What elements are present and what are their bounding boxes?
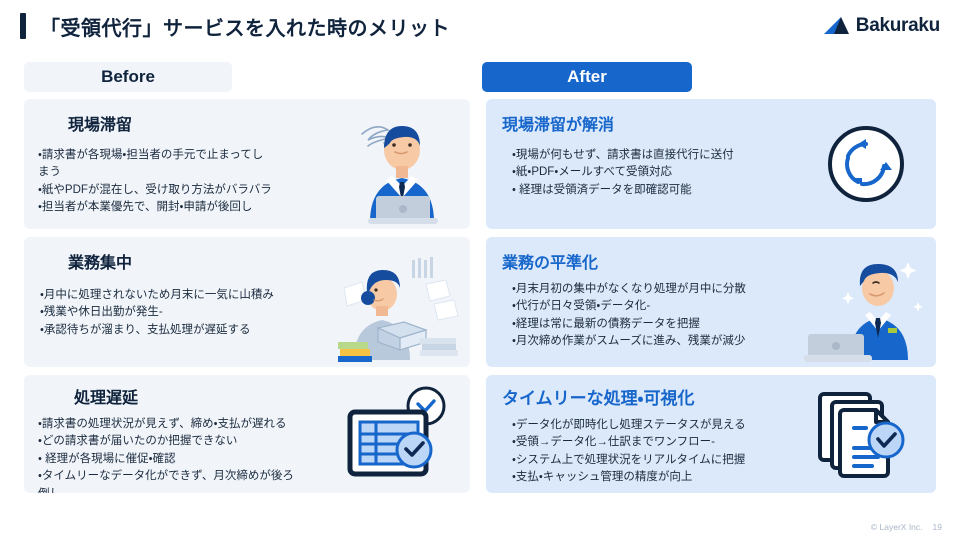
slide-header: 「受領代行」サービスを入れた時のメリット Bakuraku	[0, 0, 960, 52]
copyright-text: © LayerX Inc.	[871, 522, 923, 532]
list-item: ・ 経理が各現場に催促・確認	[38, 451, 360, 468]
list-item: ・紙・PDF・メールすべて受領対応	[512, 164, 812, 181]
before-card: 現場滞留 ・請求書が各現場・担当者の手元で止まってし まう ・紙やPDFが混在し…	[24, 99, 470, 229]
slide-footer: © LayerX Inc. 19	[871, 522, 942, 532]
before-card: 業務集中 ・月中に処理されないため月末に一気に山積み ・残業や休日出勤が発生- …	[24, 237, 470, 367]
list-item: ・現場が何もせず、請求書は直接代行に送付	[512, 147, 812, 164]
title-accent-bar	[20, 13, 26, 39]
comparison-row: 現場滞留 ・請求書が各現場・担当者の手元で止まってし まう ・紙やPDFが混在し…	[0, 99, 960, 229]
after-card: タイムリーな処理・可視化 ・データ化が即時化し処理ステータスが見える ・受領→デ…	[486, 375, 936, 493]
after-card-bullets: ・月末月初の集中がなくなり処理が月中に分散 ・代行が日々受領・データ化- ・経理…	[512, 281, 812, 351]
list-item: ・残業や休日出勤が発生-	[40, 304, 350, 321]
after-card-heading: 業務の平準化	[502, 249, 936, 273]
list-item: ・請求書の処理状況が見えず、締め・支払が遅れる	[38, 416, 360, 433]
before-card-heading: 業務集中	[68, 249, 470, 273]
list-item: ・月末月初の集中がなくなり処理が月中に分散	[512, 281, 812, 298]
comparison-row: 処理遅延 ・請求書の処理状況が見えず、締め・支払が遅れる ・どの請求書が届いたの…	[0, 375, 960, 493]
after-card-bullets: ・現場が何もせず、請求書は直接代行に送付 ・紙・PDF・メールすべて受領対応 ・…	[512, 147, 812, 199]
after-card: 業務の平準化 ・月末月初の集中がなくなり処理が月中に分散 ・代行が日々受領・デー…	[486, 237, 936, 367]
page-number: 19	[933, 522, 942, 532]
list-item: ・代行が日々受領・データ化-	[512, 298, 812, 315]
before-card-bullets: ・月中に処理されないため月末に一気に山積み ・残業や休日出勤が発生- ・承認待ち…	[40, 287, 350, 339]
before-card: 処理遅延 ・請求書の処理状況が見えず、締め・支払が遅れる ・どの請求書が届いたの…	[24, 375, 470, 493]
after-card: 現場滞留が解消 ・現場が何もせず、請求書は直接代行に送付 ・紙・PDF・メールす…	[486, 99, 936, 229]
list-item: ・受領→データ化→仕訳までワンフロー-	[512, 434, 812, 451]
before-card-heading: 現場滞留	[68, 111, 470, 135]
before-column-header: Before	[24, 62, 232, 92]
list-item: ・システム上で処理状況をリアルタイムに把握	[512, 452, 812, 469]
after-card-heading: 現場滞留が解消	[502, 111, 936, 135]
list-item: ・担当者が本業優先で、開封・申請が後回し	[38, 199, 348, 216]
after-card-heading: タイムリーな処理・可視化	[502, 384, 936, 409]
brand-logo: Bakuraku	[824, 15, 940, 37]
list-item: ・請求書が各現場・担当者の手元で止まってし まう	[38, 147, 348, 182]
comparison-grid: 現場滞留 ・請求書が各現場・担当者の手元で止まってし まう ・紙やPDFが混在し…	[0, 99, 960, 501]
list-item: ・紙やPDFが混在し、受け取り方法がバラバラ	[38, 182, 348, 199]
after-column-header: After	[482, 62, 692, 92]
before-card-bullets: ・請求書の処理状況が見えず、締め・支払が遅れる ・どの請求書が届いたのか把握でき…	[38, 416, 360, 493]
list-item: ・どの請求書が届いたのか把握できない	[38, 433, 360, 450]
list-item: ・ 経理は受領済データを即確認可能	[512, 182, 812, 199]
after-card-bullets: ・データ化が即時化し処理ステータスが見える ・受領→データ化→仕訳までワンフロー…	[512, 417, 812, 487]
comparison-row: 業務集中 ・月中に処理されないため月末に一気に山積み ・残業や休日出勤が発生- …	[0, 237, 960, 367]
page-title: 「受領代行」サービスを入れた時のメリット	[40, 12, 450, 41]
brand-name: Bakuraku	[856, 15, 940, 37]
triangle-mountain-icon	[824, 17, 850, 35]
list-item: ・承認待ちが溜まり、支払処理が遅延する	[40, 322, 350, 339]
before-card-heading: 処理遅延	[74, 384, 470, 408]
list-item: ・支払・キャッシュ管理の精度が向上	[512, 469, 812, 486]
list-item: ・データ化が即時化し処理ステータスが見える	[512, 417, 812, 434]
column-headers: Before After	[0, 62, 960, 92]
before-card-bullets: ・請求書が各現場・担当者の手元で止まってし まう ・紙やPDFが混在し、受け取り…	[38, 147, 348, 217]
list-item: ・経理は常に最新の債務データを把握	[512, 316, 812, 333]
list-item: ・月次締め作業がスムーズに進み、残業が減少	[512, 333, 812, 350]
list-item: ・タイムリーなデータ化ができず、月次締めが後ろ 倒し	[38, 468, 360, 493]
list-item: ・月中に処理されないため月末に一気に山積み	[40, 287, 350, 304]
